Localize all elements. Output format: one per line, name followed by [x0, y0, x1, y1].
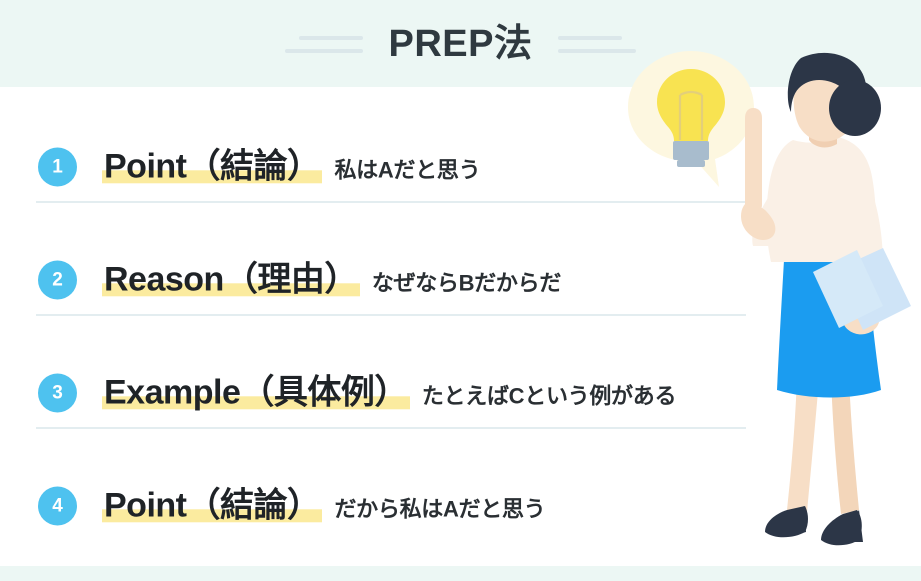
list-item-content: Point（結論） だから私はAだと思う [102, 487, 545, 524]
list-item-content: Example（具体例） たとえばCという例がある [102, 374, 676, 411]
step-term: Reason（理由） [102, 261, 360, 298]
list-divider [36, 427, 746, 429]
list-item: 2 Reason（理由） なぜならBだからだ [0, 223, 921, 336]
step-number-badge: 4 [38, 486, 77, 525]
step-term: Point（結論） [102, 148, 322, 185]
list-divider [36, 314, 746, 316]
page-title: PREP法 [389, 25, 533, 63]
step-number-badge: 2 [38, 260, 77, 299]
step-description: だから私はAだと思う [334, 491, 545, 523]
rule-line [558, 49, 636, 53]
list-item-content: Reason（理由） なぜならBだからだ [102, 261, 561, 298]
list-item-content: Point（結論） 私はAだと思う [102, 148, 480, 185]
prep-step-list: 1 Point（結論） 私はAだと思う 2 Reason（理由） なぜならBだか… [0, 87, 921, 566]
step-number-badge: 3 [38, 373, 77, 412]
step-number-badge: 1 [38, 147, 77, 186]
header-rule-right [558, 34, 636, 53]
infographic-page: PREP法 1 Point（結論） 私はAだと思う 2 Reaso [0, 0, 921, 581]
list-divider [36, 201, 746, 203]
step-description: 私はAだと思う [334, 152, 480, 184]
list-item: 1 Point（結論） 私はAだと思う [0, 110, 921, 223]
step-term: Example（具体例） [102, 374, 410, 411]
rule-line [285, 49, 363, 53]
step-description: なぜならBだからだ [372, 265, 561, 297]
list-item: 3 Example（具体例） たとえばCという例がある [0, 336, 921, 449]
header-rule-left [285, 34, 363, 53]
list-item: 4 Point（結論） だから私はAだと思う [0, 449, 921, 562]
page-header: PREP法 [0, 0, 921, 87]
rule-line [558, 36, 622, 40]
rule-line [299, 36, 363, 40]
step-description: たとえばCという例がある [422, 378, 676, 410]
footer-band [0, 566, 921, 581]
step-term: Point（結論） [102, 487, 322, 524]
